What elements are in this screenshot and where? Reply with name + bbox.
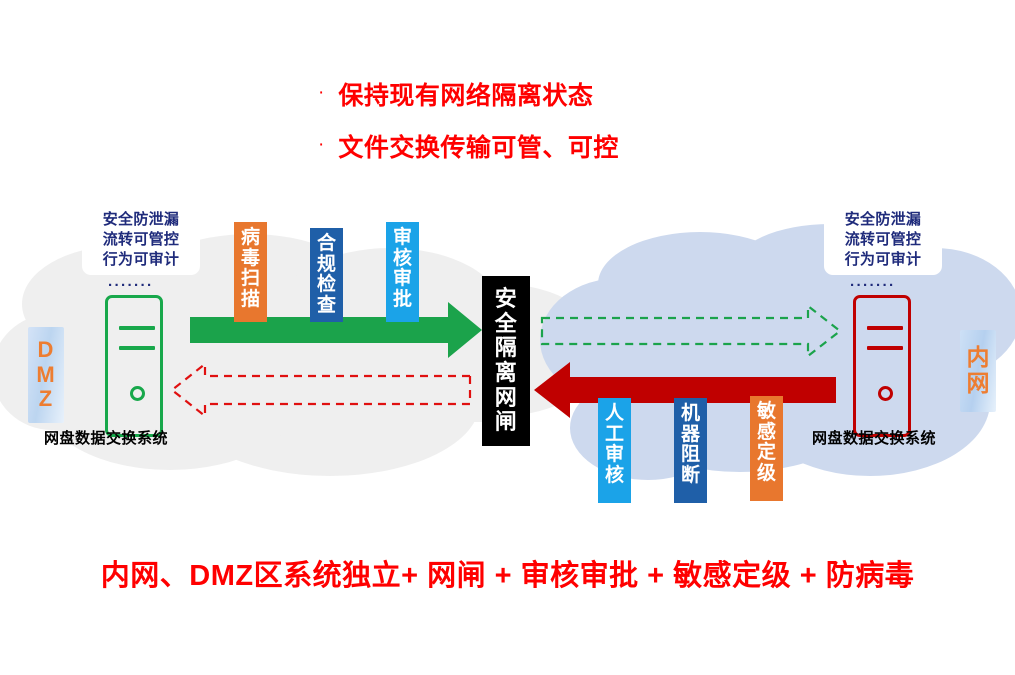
intranet-zone-chip: 内 网	[960, 330, 996, 412]
tag-char: 查	[317, 296, 336, 317]
server-bar	[119, 346, 155, 350]
intranet-server-label: 网盘数据交换系统	[812, 427, 936, 448]
right-capability-callout: 安全防泄漏 流转可管控 行为可审计	[824, 203, 942, 275]
inbound-dashed-arrow	[172, 364, 470, 416]
inbound-tag-manual-review: 人 工 审 核	[598, 398, 631, 503]
dmz-letter: M	[36, 363, 55, 388]
summary-formula: 内网、DMZ区系统独立+ 网闸 + 审核审批 + 敏感定级 + 防病毒	[0, 552, 1015, 594]
tag-char: 核	[605, 466, 624, 487]
server-bar	[867, 346, 903, 350]
tag-char: 描	[241, 290, 260, 311]
tag-char: 阻	[681, 445, 700, 466]
server-power-ring	[130, 386, 145, 401]
gateway-char: 隔	[495, 336, 518, 361]
tag-char: 病	[241, 228, 260, 249]
tag-char: 审	[393, 228, 412, 249]
tag-char: 合	[317, 234, 336, 255]
key-point-item: · 保持现有网络隔离状态	[318, 76, 838, 112]
key-point-text: 文件交换传输可管、可控	[338, 128, 619, 164]
gateway-char: 网	[495, 386, 518, 411]
key-point-item: · 文件交换传输可管、可控	[318, 128, 838, 164]
outbound-tag-compliance-check: 合 规 检 查	[310, 228, 343, 322]
tag-char: 器	[681, 425, 700, 446]
tag-char: 规	[317, 255, 336, 276]
tag-char: 感	[757, 423, 776, 444]
gateway-char: 离	[495, 361, 518, 386]
right-callout-connector-dots: ·······	[850, 278, 895, 293]
tag-char: 级	[757, 464, 776, 485]
server-power-ring	[878, 386, 893, 401]
tag-char: 核	[393, 249, 412, 270]
key-point-text: 保持现有网络隔离状态	[338, 76, 593, 112]
left-capability-callout: 安全防泄漏 流转可管控 行为可审计	[82, 203, 200, 275]
tag-char: 工	[605, 425, 624, 446]
intranet-char: 内	[967, 345, 990, 371]
bullet-dot-icon: ·	[318, 83, 324, 102]
tag-char: 敏	[757, 402, 776, 423]
inbound-tag-sensitivity-grading: 敏 感 定 级	[750, 396, 783, 501]
callout-line: 安全防泄漏	[833, 210, 933, 230]
outbound-dashed-arrow	[542, 306, 840, 356]
dmz-letter: D	[38, 338, 55, 363]
key-points-list: · 保持现有网络隔离状态 · 文件交换传输可管、可控	[318, 76, 838, 180]
dmz-server-label: 网盘数据交换系统	[44, 427, 168, 448]
tag-char: 定	[757, 443, 776, 464]
tag-char: 毒	[241, 249, 260, 270]
callout-line: 安全防泄漏	[91, 210, 191, 230]
diagram-canvas: · 保持现有网络隔离状态 · 文件交换传输可管、可控 D M Z 安全防泄漏 流…	[0, 0, 1015, 675]
callout-line: 行为可审计	[91, 250, 191, 270]
tag-char: 机	[681, 404, 700, 425]
dmz-letter: Z	[39, 387, 53, 412]
inbound-tag-machine-block: 机 器 阻 断	[674, 398, 707, 503]
left-callout-connector-dots: ·······	[108, 278, 153, 293]
tag-char: 人	[605, 404, 624, 425]
tag-char: 审	[393, 269, 412, 290]
tag-char: 检	[317, 275, 336, 296]
tag-char: 扫	[241, 269, 260, 290]
dmz-zone-chip: D M Z	[28, 327, 64, 423]
outbound-tag-review-approval: 审 核 审 批	[386, 222, 419, 322]
gateway-char: 全	[495, 312, 518, 337]
server-bar	[867, 326, 903, 330]
intranet-char: 网	[967, 371, 990, 397]
gateway-char: 闸	[495, 410, 518, 435]
callout-line: 行为可审计	[833, 250, 933, 270]
callout-line: 流转可管控	[91, 230, 191, 250]
intranet-server-icon	[853, 295, 911, 437]
callout-line: 流转可管控	[833, 230, 933, 250]
tag-char: 批	[393, 290, 412, 311]
tag-char: 断	[681, 466, 700, 487]
gateway-char: 安	[495, 287, 518, 312]
outbound-tag-virus-scan: 病 毒 扫 描	[234, 222, 267, 322]
bullet-dot-icon: ·	[318, 135, 324, 154]
server-bar	[119, 326, 155, 330]
dmz-server-icon	[105, 295, 163, 437]
security-isolation-gateway: 安 全 隔 离 网 闸	[482, 276, 530, 446]
tag-char: 审	[605, 445, 624, 466]
